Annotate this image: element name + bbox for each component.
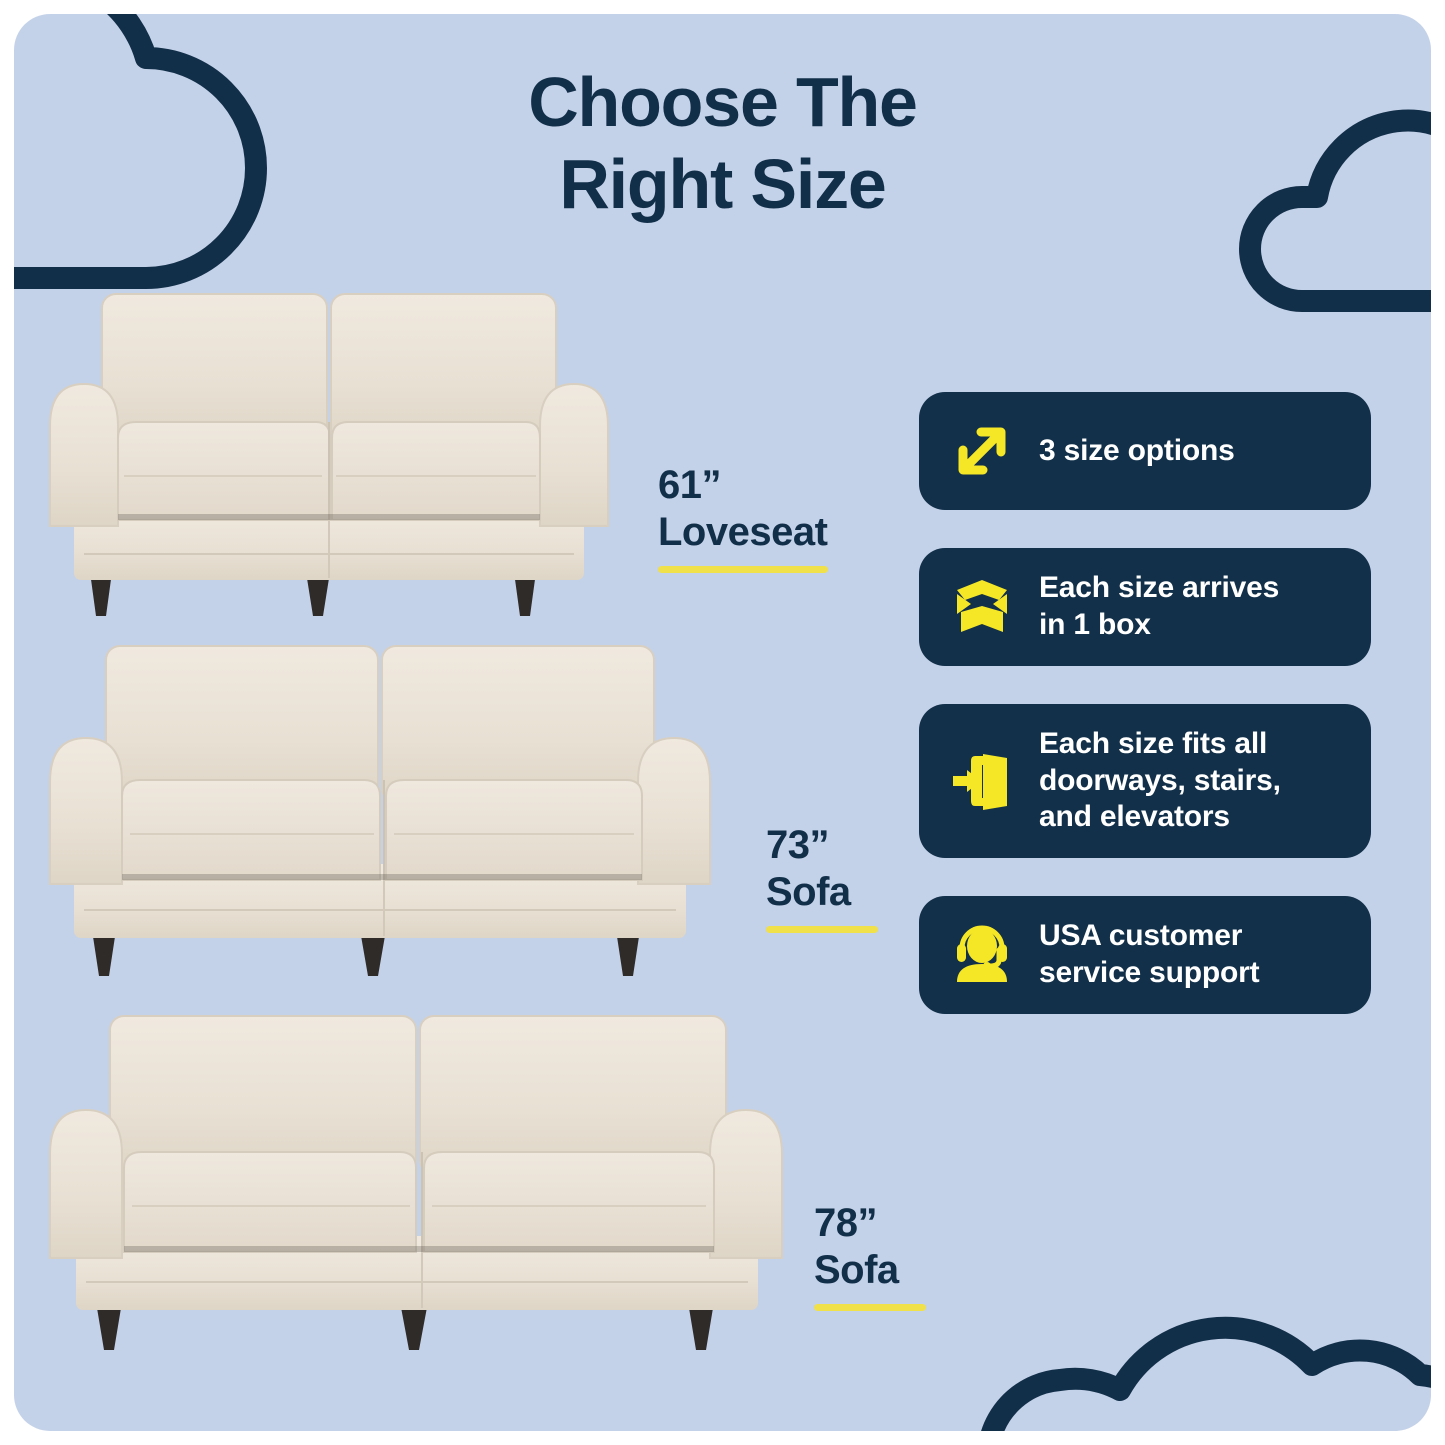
feature-badge-text: USA customer service support [1039,918,1259,991]
title-line-1: Choose The [14,62,1431,144]
size-underline-rule [658,566,828,573]
size-name: Loveseat [658,509,828,556]
feature-badge-text: Each size fits all doorways, stairs, and… [1039,726,1281,836]
title-line-2: Right Size [14,144,1431,226]
size-measure: 73” [766,822,878,869]
headset-support-icon [945,918,1019,992]
size-name: Sofa [814,1247,926,1294]
size-underline-rule [766,926,878,933]
feature-badge-one-box[interactable]: Each size arrives in 1 box [919,548,1371,666]
product-illustration-sofa-78 [44,1006,824,1358]
size-name: Sofa [766,869,878,916]
sofa-73-illustration [44,636,744,984]
size-underline-rule [814,1304,926,1311]
size-label-sofa-73: 73” Sofa [766,822,878,933]
feature-badge-customer-support[interactable]: USA customer service support [919,896,1371,1014]
feature-badge-size-options[interactable]: 3 size options [919,392,1371,510]
loveseat-illustration [44,286,654,626]
sofa-78-illustration [44,1006,824,1358]
size-label-loveseat: 61” Loveseat [658,462,828,573]
size-measure: 61” [658,462,828,509]
product-illustration-loveseat [44,286,654,626]
feature-badge-text: 3 size options [1039,433,1235,470]
infographic-canvas: Choose The Right Size [14,14,1431,1431]
cloud-outline-icon [1000,1257,1431,1431]
open-box-icon [945,570,1019,644]
size-measure: 78” [814,1200,926,1247]
doorway-entry-icon [945,744,1019,818]
size-label-sofa-78: 78” Sofa [814,1200,926,1311]
resize-arrows-icon [945,414,1019,488]
feature-badge-text: Each size arrives in 1 box [1039,570,1279,643]
feature-badge-list: 3 size options Each size arrives in 1 bo… [919,392,1371,1014]
product-illustration-sofa-73 [44,636,744,984]
feature-badge-fits-doorways[interactable]: Each size fits all doorways, stairs, and… [919,704,1371,858]
page-title: Choose The Right Size [14,62,1431,226]
